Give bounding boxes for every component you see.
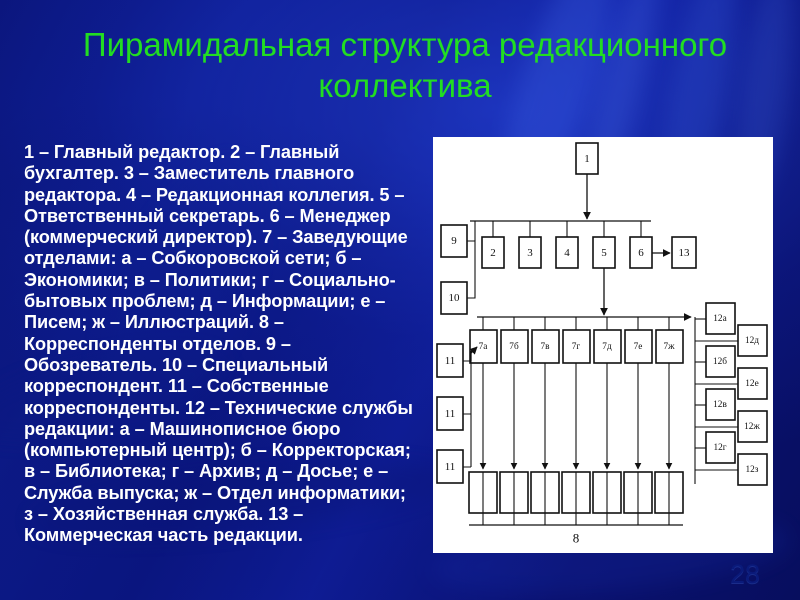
correspondent-box-7 <box>655 472 683 513</box>
node-1-label: 1 <box>584 153 590 165</box>
node-12z-label: 12з <box>746 465 759 475</box>
stubs-11-boxes <box>463 361 471 467</box>
bracket-9-10 <box>467 241 475 298</box>
node-12a-label: 12а <box>713 314 726 324</box>
node-10-label: 10 <box>449 292 461 304</box>
correspondent-box-3 <box>531 472 559 513</box>
node-11-label-1: 11 <box>445 355 456 367</box>
node-7d-label: 7д <box>602 342 612 352</box>
node-7b-label: 7б <box>509 341 519 352</box>
node-3-label: 3 <box>527 247 533 259</box>
node-12g-label: 12г <box>713 443 726 453</box>
node-11-label-3: 11 <box>445 461 456 473</box>
node-12d-label: 12д <box>745 336 759 346</box>
node-11-label-2: 11 <box>445 408 456 420</box>
correspondent-box-5 <box>593 472 621 513</box>
node-13-label: 13 <box>679 247 691 259</box>
node-12v-label: 12в <box>713 400 727 410</box>
slide-canvas: Пирамидальная структура редакционного ко… <box>0 0 800 600</box>
node-4-label: 4 <box>564 247 570 259</box>
correspondent-box-4 <box>562 472 590 513</box>
node-7g-label: 7г <box>572 342 581 352</box>
node-9-label: 9 <box>451 235 457 247</box>
correspondent-box-1 <box>469 472 497 513</box>
node-2-label: 2 <box>490 247 496 259</box>
node-7e-label: 7е <box>634 342 643 352</box>
node-5-label: 5 <box>601 247 607 259</box>
node-7a-label: 7а <box>479 342 488 352</box>
node-12e-label: 12е <box>745 379 758 389</box>
slide-title: Пирамидальная структура редакционного ко… <box>60 24 750 106</box>
node-12b-label: 12б <box>713 356 727 367</box>
node-7zh-label: 7ж <box>663 342 675 352</box>
correspondent-box-2 <box>500 472 528 513</box>
correspondents-label: 8 <box>573 531 580 546</box>
page-number: 28 <box>730 559 760 590</box>
correspondent-box-6 <box>624 472 652 513</box>
node-12zh-label: 12ж <box>744 422 760 432</box>
org-structure-diagram: 1 2 3 4 5 6 13 <box>433 137 773 553</box>
node-6-label: 6 <box>638 247 644 259</box>
node-7v-label: 7в <box>540 342 550 352</box>
slide-body-text: 1 – Главный редактор. 2 – Главный бухгал… <box>24 142 416 547</box>
